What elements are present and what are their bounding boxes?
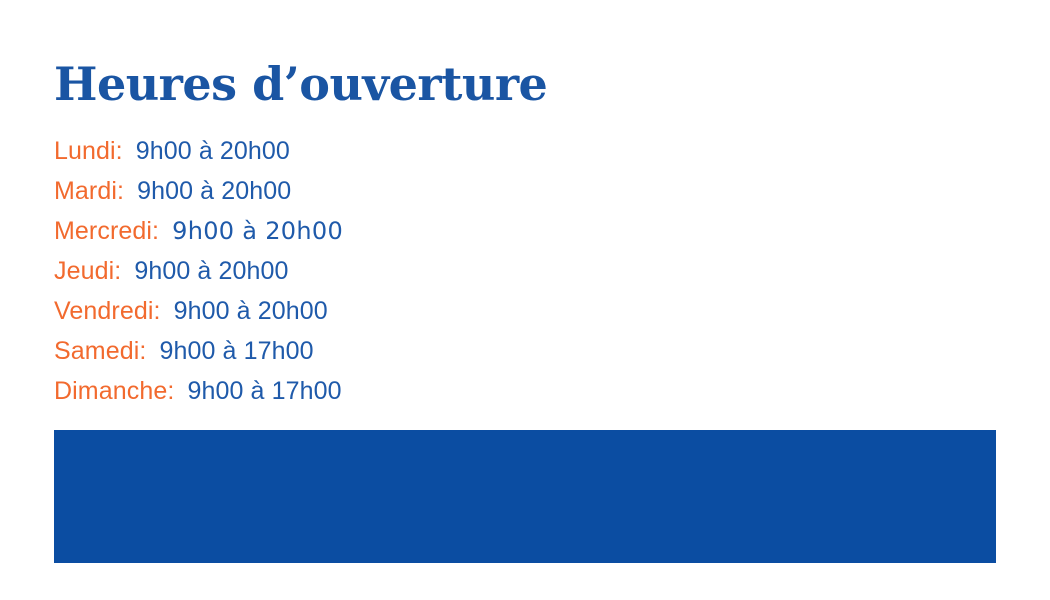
day-hours: 9h00 à 17h00: [187, 377, 341, 405]
day-hours: 9h00 à 17h00: [159, 337, 313, 365]
day-label: Jeudi:: [54, 257, 121, 285]
opening-hours-slide: Heures d’ouverture Lundi: 9h00 à 20h00 M…: [0, 0, 1050, 600]
day-label: Samedi:: [54, 337, 146, 365]
day-label: Vendredi:: [54, 297, 161, 325]
day-hours: 9h00 à 20h00: [137, 177, 291, 205]
day-hours: 9h00 à 20h00: [136, 137, 290, 165]
list-item: Samedi: 9h00 à 17h00: [54, 331, 343, 371]
day-hours: 9h00 à 20h00: [172, 217, 343, 245]
day-label: Lundi:: [54, 137, 123, 165]
day-hours: 9h00 à 20h00: [134, 257, 288, 285]
day-label: Mardi:: [54, 177, 124, 205]
list-item: Mercredi: 9h00 à 20h00: [54, 211, 343, 251]
list-item: Vendredi: 9h00 à 20h00: [54, 291, 343, 331]
list-item: Mardi: 9h00 à 20h00: [54, 171, 343, 211]
page-title: Heures d’ouverture: [54, 60, 547, 110]
list-item: Lundi: 9h00 à 20h00: [54, 131, 343, 171]
list-item: Jeudi: 9h00 à 20h00: [54, 251, 343, 291]
banner-block: [54, 430, 996, 563]
day-label: Dimanche:: [54, 377, 174, 405]
day-hours: 9h00 à 20h00: [174, 297, 328, 325]
day-label: Mercredi:: [54, 217, 159, 245]
opening-hours-list: Lundi: 9h00 à 20h00 Mardi: 9h00 à 20h00 …: [54, 131, 343, 411]
list-item: Dimanche: 9h00 à 17h00: [54, 371, 343, 411]
